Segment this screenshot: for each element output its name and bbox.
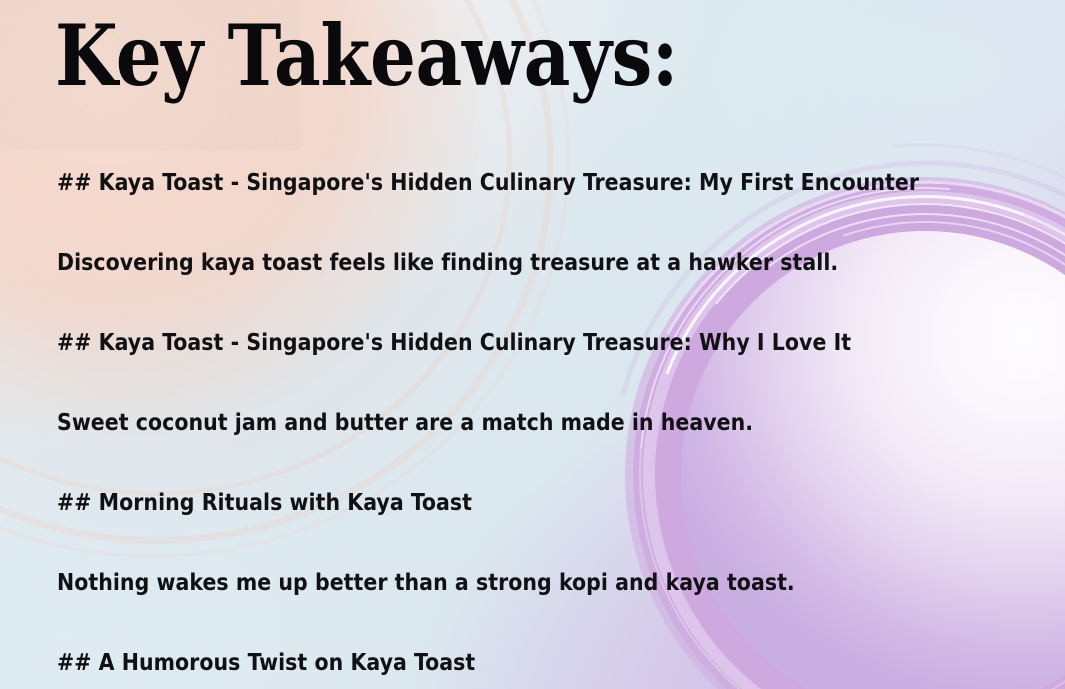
takeaway-line: Discovering kaya toast feels like findin…: [57, 222, 1006, 302]
takeaway-line: ## Kaya Toast - Singapore's Hidden Culin…: [57, 142, 1006, 222]
takeaway-line: ## A Humorous Twist on Kaya Toast: [57, 622, 1006, 689]
takeaway-line: ## Kaya Toast - Singapore's Hidden Culin…: [57, 302, 1006, 382]
takeaway-line: Sweet coconut jam and butter are a match…: [57, 382, 1006, 462]
slide-canvas: Key Takeaways: ## Kaya Toast - Singapore…: [0, 0, 1065, 689]
takeaway-line: Nothing wakes me up better than a strong…: [57, 542, 1006, 622]
takeaway-line: ## Morning Rituals with Kaya Toast: [57, 462, 1006, 542]
takeaways-list: ## Kaya Toast - Singapore's Hidden Culin…: [57, 142, 1035, 689]
page-title: Key Takeaways:: [55, 14, 678, 98]
slide-content: Key Takeaways: ## Kaya Toast - Singapore…: [0, 0, 1065, 689]
